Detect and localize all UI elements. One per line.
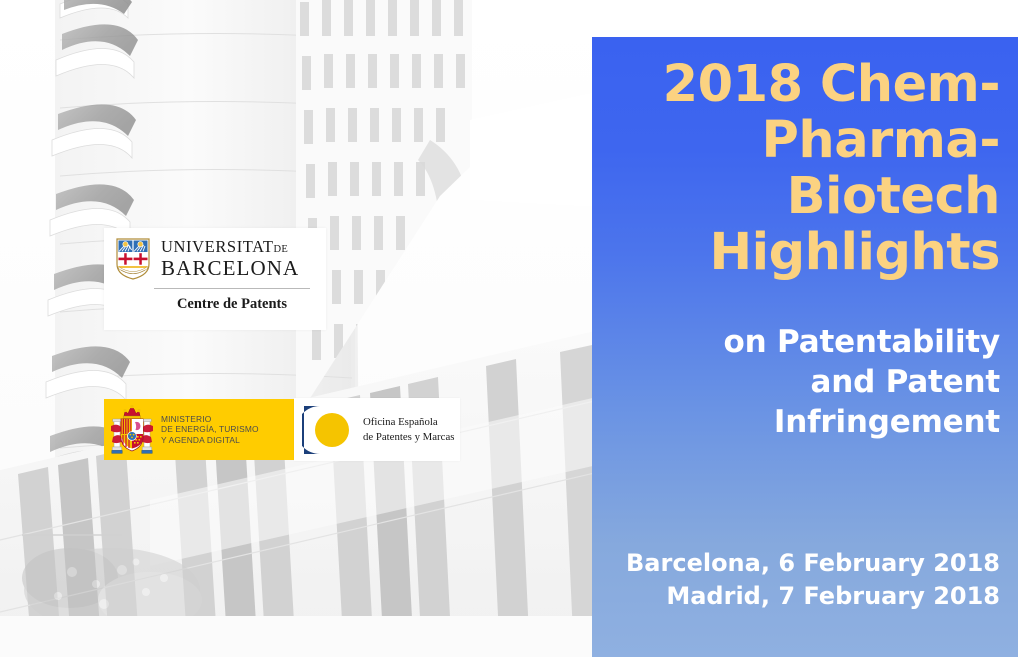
oepm-wordmark: Oficina Española de Patentes y Marcas <box>363 415 454 445</box>
oepm-logo-icon <box>302 404 354 456</box>
ub-wordmark-line1: UNIVERSITATDE <box>161 239 299 256</box>
ministerio-logo-card: MINISTERIO DE ENERGÍA, TURISMO Y AGENDA … <box>104 399 294 460</box>
oepm-logo-card: Oficina Española de Patentes y Marcas <box>294 398 460 461</box>
universitat-de-barcelona-logo-card: UNIVERSITATDE BARCELONA Centre de Patent… <box>104 228 326 330</box>
ub-wordmark-de: DE <box>274 244 289 255</box>
panel-content: 2018 Chem- Pharma- Biotech Highlights on… <box>592 37 1018 657</box>
event-poster: UNIVERSITATDE BARCELONA Centre de Patent… <box>0 0 1018 657</box>
ub-wordmark-universitat: UNIVERSITAT <box>161 237 274 256</box>
event-dates: Barcelona, 6 February 2018 Madrid, 7 Feb… <box>612 547 1000 613</box>
ub-logo-top: UNIVERSITATDE BARCELONA <box>104 228 326 280</box>
universitat-de-barcelona-crest-icon <box>116 238 150 280</box>
title-line-4: Highlights <box>612 225 1000 281</box>
blue-info-panel: 2018 Chem- Pharma- Biotech Highlights on… <box>592 37 1018 657</box>
subtitle-line-3: Infringement <box>612 402 1000 442</box>
ub-centre-de-patents-label: Centre de Patents <box>104 289 326 313</box>
subtitle-line-2: and Patent <box>612 362 1000 402</box>
subtitle-line-1: on Patentability <box>612 322 1000 362</box>
title-line-1: 2018 Chem- <box>612 57 1000 113</box>
title-line-2: Pharma- <box>612 113 1000 169</box>
spain-coat-of-arms-icon <box>110 404 154 456</box>
date-line-madrid: Madrid, 7 February 2018 <box>612 580 1000 613</box>
ub-wordmark-barcelona: BARCELONA <box>161 258 299 279</box>
title-line-3: Biotech <box>612 169 1000 225</box>
date-line-barcelona: Barcelona, 6 February 2018 <box>612 547 1000 580</box>
oepm-line2: de Patentes y Marcas <box>363 430 454 445</box>
oepm-line1: Oficina Española <box>363 415 454 430</box>
ministerio-line2: DE ENERGÍA, TURISMO <box>161 424 259 435</box>
ministerio-wordmark: MINISTERIO DE ENERGÍA, TURISMO Y AGENDA … <box>161 414 259 446</box>
event-title: 2018 Chem- Pharma- Biotech Highlights <box>612 57 1000 281</box>
event-subtitle: on Patentability and Patent Infringement <box>612 322 1000 442</box>
ministerio-line1: MINISTERIO <box>161 414 259 425</box>
ministerio-line3: Y AGENDA DIGITAL <box>161 435 259 446</box>
ub-wordmark: UNIVERSITATDE BARCELONA <box>161 239 299 280</box>
